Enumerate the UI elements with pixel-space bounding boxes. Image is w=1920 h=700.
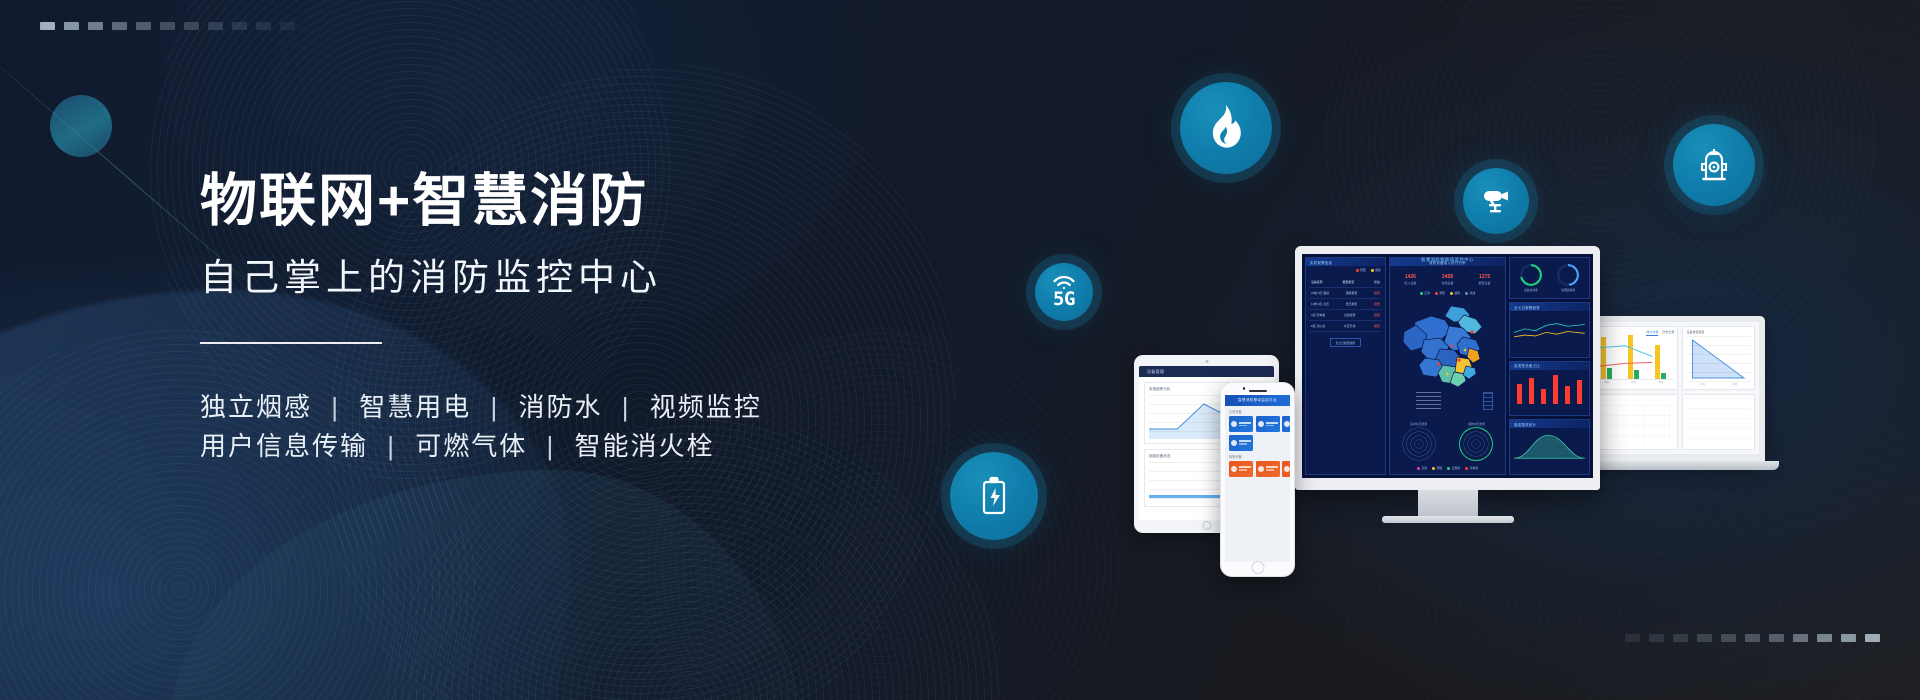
alarm-legend: 预警 故障	[1306, 266, 1385, 275]
divider-rule	[200, 342, 382, 344]
feature-item-hydrant: 智能消火栓	[575, 431, 715, 461]
td-device: 2#楼 3层 烟感	[1311, 291, 1329, 295]
tablet-home-button[interactable]	[1202, 521, 1211, 530]
phone-speaker	[1249, 390, 1267, 392]
tile-text	[1266, 466, 1278, 470]
tick-label: 05月	[1658, 380, 1663, 384]
camera-icon-badge	[1463, 168, 1529, 234]
tile-icon	[1284, 421, 1290, 427]
phone-tile-water-alarm[interactable]	[1282, 461, 1290, 477]
laptop-area-card-header: 设备告警趋势	[1686, 330, 1751, 334]
radar-row: 实时信号监测 消防水压监测	[1390, 416, 1505, 464]
phone-tile-water[interactable]	[1282, 416, 1290, 432]
monitor-bezel: 智慧消防物联网监控中心 实时报警信息 预警 故障 设备名称 报警类型	[1295, 246, 1600, 490]
phone-tile-video[interactable]	[1229, 435, 1253, 451]
td-type: 烟雾报警	[1346, 291, 1358, 295]
dashboard-trend-panel: 近七日报警趋势	[1509, 302, 1590, 358]
kpi-value: 1275	[1479, 274, 1491, 280]
tile-text	[1239, 422, 1251, 426]
legend-item: 正常	[1417, 466, 1427, 470]
feature-item-video: 视频监控	[650, 392, 762, 422]
kpi-value: 1426	[1404, 274, 1416, 280]
tile-icon	[1231, 421, 1237, 427]
legend-item: 预警	[1356, 268, 1366, 272]
laptop-tab-inactive[interactable]: 历史记录	[1662, 330, 1674, 336]
tile-text	[1239, 466, 1251, 470]
legend-item: 正常值	[1447, 466, 1460, 470]
hero-banner: 物联网+智慧消防 自己掌上的消防监控中心 独立烟感 | 智慧用电 | 消防水 |…	[0, 0, 1920, 700]
5g-signal-icon: 5G	[1052, 276, 1076, 309]
dash-decoration-top-left	[40, 22, 295, 30]
tick-label: 03月	[1604, 380, 1609, 384]
table-row: 2#楼 3层 烟感 烟雾报警 报警	[1309, 288, 1382, 299]
page-subtitle: 自己掌上的消防监控中心	[200, 255, 820, 301]
td-type: 水压异常	[1344, 324, 1356, 328]
legend-item: 离线	[1465, 291, 1475, 295]
tick-label: 01月	[1700, 382, 1705, 386]
td-type: 低压报警	[1346, 302, 1358, 306]
laptop-area-card-title: 设备告警趋势	[1686, 330, 1704, 334]
background-blob-bottom-left-2	[170, 470, 810, 700]
phone-device: 智慧消防移动监控平台 正常设备 报警设备	[1220, 382, 1295, 577]
radar-left-label: 实时信号监测	[1402, 422, 1436, 426]
ratio-panel-header: 各类型设备占比	[1510, 362, 1589, 370]
chart-gridlines	[1686, 336, 1751, 382]
phone-tile-electric-fire[interactable]	[1256, 461, 1280, 477]
dash-decoration-bottom-right	[1625, 634, 1880, 642]
hydrant-icon	[1697, 145, 1731, 185]
tile-text	[1266, 422, 1278, 426]
radar-block-right: 消防水压监测	[1459, 422, 1493, 461]
feature-item-gas: 可燃气体	[415, 431, 527, 461]
rectify-panel-header: 隐患整改统计	[1510, 420, 1589, 428]
tablet-header: 设备管理	[1139, 366, 1274, 377]
monitor-base	[1382, 516, 1514, 523]
kpi-row: 1426 接入设备 2458 在线设备 1275 报警设备	[1390, 266, 1505, 289]
gauge-item: 设备在线率	[1520, 264, 1542, 292]
kpi-item: 1275 报警设备	[1479, 274, 1491, 285]
tick-label: 05月	[1732, 382, 1737, 386]
gauge-label: 设备在线率	[1520, 288, 1542, 292]
device-mockup-cluster: 设备管理 用电趋势分析 烟感设备状态	[1120, 280, 1760, 600]
dashboard-title: 智慧消防物联网监控中心	[1302, 257, 1593, 263]
dashboard-ratio-panel: 各类型设备占比	[1509, 361, 1590, 417]
kpi-item: 2458 在线设备	[1441, 274, 1453, 285]
kpi-label: 接入设备	[1404, 281, 1416, 285]
gauge-ring-processed	[1557, 264, 1579, 286]
td-status: 报警	[1374, 313, 1380, 317]
legend-item: 正常	[1420, 291, 1430, 295]
tile-icon	[1231, 466, 1237, 472]
phone-home-button[interactable]	[1251, 561, 1264, 574]
td-type: 过载报警	[1344, 313, 1356, 317]
tile-icon	[1231, 440, 1237, 446]
5g-label: 5G	[1053, 290, 1075, 309]
dashboard-right-column: 设备在线率 处理完成率 近七日报警趋势	[1509, 257, 1590, 475]
legend-item: 预警	[1435, 291, 1445, 295]
feature-line-1: 独立烟感 | 智慧用电 | 消防水 | 视频监控	[200, 388, 820, 428]
phone-tile-grid-alarm	[1225, 461, 1290, 477]
tile-icon	[1258, 421, 1264, 427]
fire-icon-badge	[1180, 82, 1272, 174]
radar-legend: 正常 预警 正常值 异常值	[1390, 464, 1505, 474]
phone-tile-electricity[interactable]	[1256, 416, 1280, 432]
feature-item-transmission: 用户信息传输	[200, 431, 368, 461]
tablet-camera-dot	[1205, 360, 1208, 363]
feature-item-water: 消防水	[519, 392, 603, 422]
alarm-more-button[interactable]: 近七日报警趋势	[1330, 338, 1362, 347]
radar-chart-left	[1402, 427, 1436, 461]
feature-list: 独立烟感 | 智慧用电 | 消防水 | 视频监控 用户信息传输 | 可燃气体 |…	[200, 388, 820, 467]
phone-section-normal-label: 正常设备	[1225, 406, 1290, 416]
map-data-list	[1416, 392, 1441, 412]
hero-copy: 物联网+智慧消防 自己掌上的消防监控中心 独立烟感 | 智慧用电 | 消防水 |…	[200, 168, 820, 467]
dashboard-gauge-panel: 设备在线率 处理完成率	[1509, 257, 1590, 299]
kpi-item: 1426 接入设备	[1404, 274, 1416, 285]
feature-item-smoke: 独立烟感	[200, 392, 312, 422]
kpi-value: 2458	[1441, 274, 1453, 280]
feature-item-electricity: 智慧用电	[359, 392, 471, 422]
laptop-area-ticks: 01月 05月	[1686, 382, 1751, 386]
chart-gridlines	[1510, 311, 1589, 345]
5g-signal-icon-badge: 5G	[1035, 263, 1093, 321]
radar-block-left: 实时信号监测	[1402, 422, 1436, 461]
dashboard-map-panel: 消防设备接入统计分析 1426 接入设备 2458 在线设备 1	[1389, 257, 1506, 475]
tick-label: 04月	[1631, 380, 1636, 384]
laptop-tab-active[interactable]: 统计分析	[1646, 330, 1658, 336]
phone-screen: 智慧消防移动监控平台 正常设备 报警设备	[1225, 395, 1290, 562]
feature-separator: |	[537, 431, 566, 461]
radar-chart-right	[1459, 427, 1493, 461]
decorative-circle	[50, 95, 112, 157]
hydrant-icon-badge	[1673, 124, 1755, 206]
monitor-device: 智慧消防物联网监控中心 实时报警信息 预警 故障 设备名称 报警类型	[1295, 246, 1600, 523]
th-type: 报警类型	[1343, 280, 1355, 284]
feature-line-2: 用户信息传输 | 可燃气体 | 智能消火栓	[200, 427, 820, 467]
table-row: B区 消火栓 水压异常 报警	[1309, 321, 1382, 332]
feature-separator: |	[612, 392, 641, 422]
gauge-row: 设备在线率 处理完成率	[1510, 258, 1589, 298]
tile-text	[1239, 440, 1251, 444]
trend-line-chart	[1510, 311, 1589, 345]
feature-separator: |	[377, 431, 406, 461]
td-status: 报警	[1374, 302, 1380, 306]
laptop-misc-grid	[1686, 398, 1751, 446]
laptop-misc-card	[1682, 394, 1755, 450]
dashboard-alarm-panel: 实时报警信息 预警 故障 设备名称 报警类型 状态	[1305, 257, 1386, 475]
ratio-bar-chart	[1510, 370, 1589, 404]
td-device: A区 配电箱	[1311, 313, 1325, 317]
monitor-screen: 智慧消防物联网监控中心 实时报警信息 预警 故障 设备名称 报警类型	[1302, 254, 1593, 478]
td-device: 1#楼 2层 水压	[1311, 302, 1329, 306]
rectify-area-chart	[1510, 428, 1589, 462]
trend-panel-header: 近七日报警趋势	[1510, 303, 1589, 311]
laptop-area-chart-card: 设备告警趋势 01月 05月	[1682, 326, 1755, 390]
phone-header: 智慧消防移动监控平台	[1225, 395, 1290, 406]
fire-icon	[1206, 105, 1246, 151]
td-device: B区 消火栓	[1311, 324, 1325, 328]
phone-tile-grid-normal	[1225, 416, 1290, 451]
monitor-stand	[1418, 490, 1478, 516]
chart-gridlines	[1510, 428, 1589, 462]
th-device: 设备名称	[1311, 280, 1323, 284]
map-side-stats	[1483, 392, 1493, 410]
gauge-ring-online	[1520, 264, 1542, 286]
td-status: 报警	[1374, 324, 1380, 328]
laptop-area-chart	[1686, 336, 1751, 382]
tablet-header-title: 设备管理	[1139, 366, 1274, 375]
phone-section-alarm-label: 报警设备	[1225, 451, 1290, 461]
tile-icon	[1258, 466, 1264, 472]
dashboard-rectify-panel: 隐患整改统计	[1509, 419, 1590, 475]
kpi-label: 在线设备	[1441, 281, 1453, 285]
phone-camera	[1243, 387, 1246, 390]
phone-tile-smoke-alarm[interactable]	[1229, 461, 1253, 477]
legend-item: 故障	[1450, 291, 1460, 295]
table-header-row: 设备名称 报警类型 状态	[1309, 277, 1382, 288]
map-legend: 正常 预警 故障 离线	[1390, 289, 1505, 298]
feature-separator: |	[321, 392, 350, 422]
alarm-table: 设备名称 报警类型 状态 2#楼 3层 烟感 烟雾报警 报警 1#楼 2层 水压	[1306, 275, 1385, 334]
kpi-label: 报警设备	[1479, 281, 1491, 285]
td-status: 报警	[1374, 291, 1380, 295]
tile-icon	[1284, 466, 1290, 472]
gauge-label: 处理完成率	[1557, 288, 1579, 292]
phone-tile-smoke[interactable]	[1229, 416, 1253, 432]
legend-item: 异常值	[1465, 466, 1478, 470]
table-row: A区 配电箱 过载报警 报警	[1309, 310, 1382, 321]
camera-icon	[1481, 187, 1511, 215]
page-title: 物联网+智慧消防	[200, 168, 820, 235]
china-map	[1390, 298, 1505, 416]
battery-icon-badge	[950, 452, 1038, 540]
feature-separator: |	[481, 392, 510, 422]
gauge-item: 处理完成率	[1557, 264, 1579, 292]
legend-item: 故障	[1371, 268, 1381, 272]
battery-icon	[979, 475, 1009, 517]
legend-item: 预警	[1432, 466, 1442, 470]
table-row: 1#楼 2层 水压 低压报警 报警	[1309, 299, 1382, 310]
th-status: 状态	[1374, 280, 1380, 284]
radar-right-label: 消防水压监测	[1459, 422, 1493, 426]
